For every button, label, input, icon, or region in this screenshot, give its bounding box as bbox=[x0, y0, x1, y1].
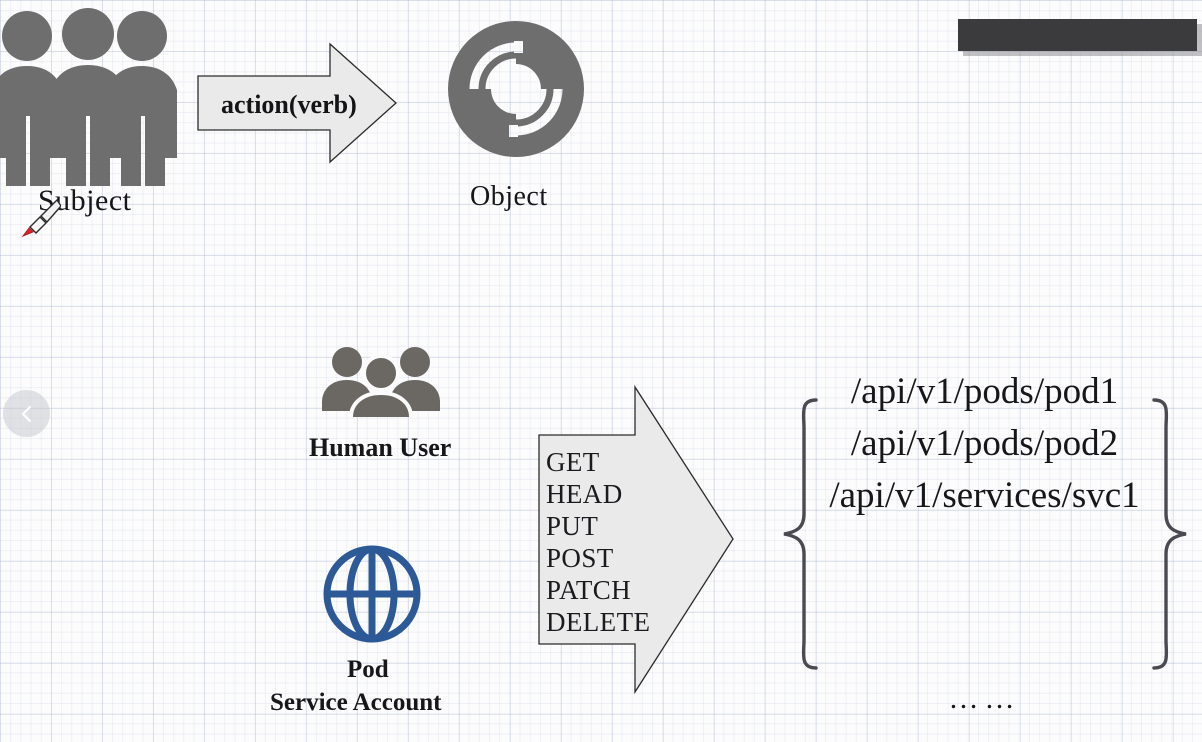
verb-item: POST bbox=[546, 542, 716, 574]
api-path-item: /api/v1/pods/pod1 bbox=[812, 366, 1157, 418]
globe-icon bbox=[320, 542, 424, 646]
api-paths-list: /api/v1/pods/pod1 /api/v1/pods/pod2 /api… bbox=[812, 366, 1157, 522]
chevron-left-icon bbox=[16, 403, 38, 425]
disc-resource-icon bbox=[440, 13, 592, 165]
verb-item: PUT bbox=[546, 510, 716, 542]
object-label: Object bbox=[470, 181, 548, 213]
pod-label: Pod bbox=[347, 656, 389, 684]
api-path-item: /api/v1/services/svc1 bbox=[812, 470, 1157, 522]
three-people-icon bbox=[0, 8, 177, 186]
verb-item: PATCH bbox=[546, 574, 716, 606]
verb-item: DELETE bbox=[546, 606, 716, 638]
people-group-icon bbox=[320, 345, 442, 417]
top-bar bbox=[958, 19, 1197, 51]
previous-slide-button[interactable] bbox=[3, 390, 50, 437]
api-path-item: /api/v1/pods/pod2 bbox=[812, 418, 1157, 470]
service-account-label: Service Account bbox=[270, 689, 441, 717]
action-arrow-label: action(verb) bbox=[221, 90, 357, 120]
verb-item: GET bbox=[546, 446, 716, 478]
slide-canvas: Subject action(verb) bbox=[0, 0, 1202, 742]
api-paths-ellipsis: …… bbox=[812, 682, 1157, 716]
verb-item: HEAD bbox=[546, 478, 716, 510]
pen-cursor-icon bbox=[19, 198, 61, 238]
human-user-label: Human User bbox=[309, 433, 451, 463]
http-verbs-list: GET HEAD PUT POST PATCH DELETE bbox=[546, 446, 716, 638]
